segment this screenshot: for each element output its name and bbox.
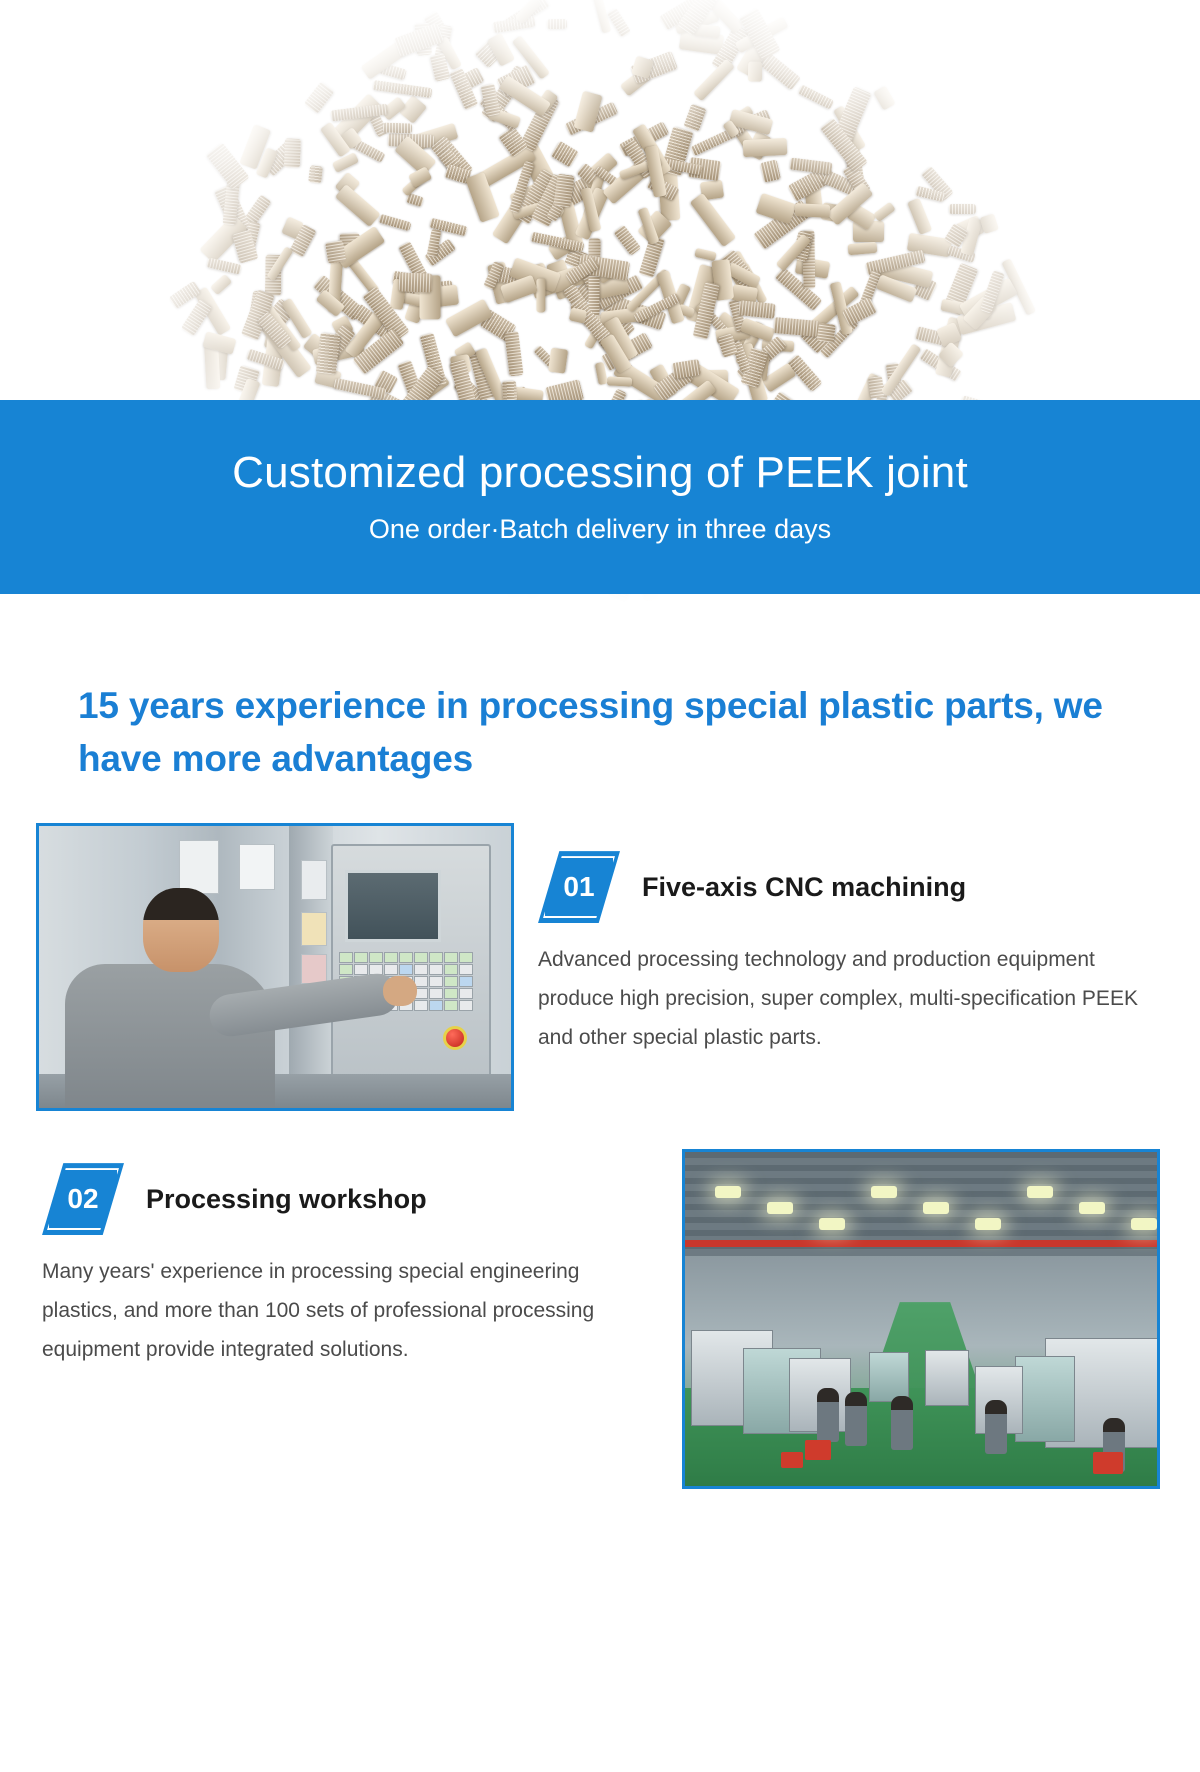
- feature-text-02: 02 Processing workshop Many years' exper…: [36, 1149, 658, 1489]
- feature-title-02: Processing workshop: [146, 1184, 427, 1215]
- feature-header-01: 01 Five-axis CNC machining: [538, 851, 1160, 923]
- banner-subtitle: One order·Batch delivery in three days: [369, 514, 831, 545]
- feature-body-02: Many years' experience in processing spe…: [42, 1253, 658, 1370]
- feature-block-01: 01 Five-axis CNC machining Advanced proc…: [0, 823, 1200, 1111]
- feature-number-badge-02: 02: [42, 1163, 124, 1235]
- feature-block-02: 02 Processing workshop Many years' exper…: [0, 1149, 1200, 1489]
- feature-number-badge-01: 01: [538, 851, 620, 923]
- feature-photo-cnc: [36, 823, 514, 1111]
- feature-photo-workshop: [682, 1149, 1160, 1489]
- feature-title-01: Five-axis CNC machining: [642, 872, 966, 903]
- feature-body-01: Advanced processing technology and produ…: [538, 941, 1160, 1058]
- banner-title: Customized processing of PEEK joint: [232, 449, 968, 497]
- cnc-scene: [39, 826, 511, 1108]
- product-detail-page: Customized processing of PEEK joint One …: [0, 0, 1200, 1772]
- hero-section: Customized processing of PEEK joint One …: [0, 0, 1200, 628]
- feature-text-01: 01 Five-axis CNC machining Advanced proc…: [538, 823, 1160, 1111]
- emergency-stop-icon: [443, 1026, 467, 1050]
- section-heading: 15 years experience in processing specia…: [78, 680, 1130, 785]
- feature-number-02: 02: [67, 1183, 98, 1215]
- feature-number-01: 01: [563, 871, 594, 903]
- workshop-scene: [685, 1152, 1157, 1486]
- feature-header-02: 02 Processing workshop: [42, 1163, 658, 1235]
- hero-banner: Customized processing of PEEK joint One …: [0, 400, 1200, 594]
